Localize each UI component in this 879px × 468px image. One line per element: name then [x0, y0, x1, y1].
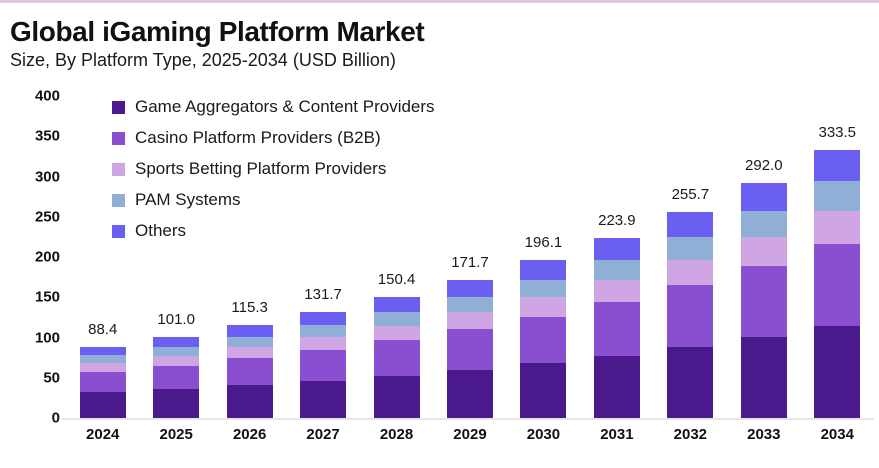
x-axis-tick-label: 2029: [453, 426, 486, 443]
bar-segment[interactable]: [153, 366, 199, 390]
x-axis-tick-label: 2030: [527, 426, 560, 443]
stacked-bar[interactable]: [227, 325, 273, 418]
bar-segment[interactable]: [374, 297, 420, 312]
bar-value-label: 223.9: [598, 212, 636, 229]
x-axis-tick-label: 2024: [86, 426, 119, 443]
bar-value-label: 171.7: [451, 254, 489, 271]
bar-segment[interactable]: [300, 337, 346, 350]
bar-value-label: 255.7: [672, 186, 710, 203]
legend-item[interactable]: Game Aggregators & Content Providers: [112, 96, 435, 118]
bar-segment[interactable]: [300, 350, 346, 381]
bar-segment[interactable]: [227, 358, 273, 385]
bar-segment[interactable]: [814, 150, 860, 181]
bar-segment[interactable]: [447, 370, 493, 418]
legend-item-label: PAM Systems: [135, 190, 240, 210]
bar-segment[interactable]: [227, 337, 273, 347]
stacked-bar[interactable]: [520, 260, 566, 418]
bar-segment[interactable]: [594, 260, 640, 280]
legend-item-label: Others: [135, 221, 186, 241]
legend-item-label: Sports Betting Platform Providers: [135, 159, 386, 179]
bar-segment[interactable]: [300, 325, 346, 337]
bar-segment[interactable]: [814, 211, 860, 244]
legend-item-label: Game Aggregators & Content Providers: [135, 97, 435, 117]
legend-swatch-icon: [112, 101, 125, 114]
stacked-bar[interactable]: [741, 183, 787, 418]
legend-item[interactable]: Sports Betting Platform Providers: [112, 158, 435, 180]
bar-column[interactable]: 333.52034: [801, 0, 874, 420]
bar-segment[interactable]: [741, 183, 787, 211]
chart-page: Global iGaming Platform Market Size, By …: [0, 0, 879, 468]
bar-segment[interactable]: [300, 312, 346, 325]
legend-swatch-icon: [112, 194, 125, 207]
stacked-bar[interactable]: [153, 337, 199, 418]
legend-swatch-icon: [112, 132, 125, 145]
x-axis-tick-label: 2034: [821, 426, 854, 443]
bar-value-label: 88.4: [88, 321, 117, 338]
bar-segment[interactable]: [594, 356, 640, 418]
bar-segment[interactable]: [153, 389, 199, 418]
bar-segment[interactable]: [80, 363, 126, 372]
bar-value-label: 196.1: [525, 234, 563, 251]
bar-segment[interactable]: [667, 237, 713, 260]
stacked-bar[interactable]: [80, 347, 126, 418]
bar-segment[interactable]: [520, 363, 566, 418]
bar-segment[interactable]: [374, 340, 420, 376]
bar-segment[interactable]: [814, 244, 860, 326]
bar-segment[interactable]: [447, 329, 493, 370]
bar-segment[interactable]: [80, 372, 126, 393]
stacked-bar[interactable]: [667, 212, 713, 418]
bar-segment[interactable]: [520, 297, 566, 316]
chart-legend: Game Aggregators & Content ProvidersCasi…: [112, 96, 435, 242]
bar-segment[interactable]: [447, 280, 493, 297]
x-axis-tick-label: 2032: [674, 426, 707, 443]
bar-segment[interactable]: [814, 326, 860, 418]
bar-segment[interactable]: [374, 312, 420, 325]
bar-segment[interactable]: [227, 325, 273, 337]
bar-segment[interactable]: [667, 285, 713, 347]
bar-segment[interactable]: [447, 297, 493, 312]
legend-item[interactable]: PAM Systems: [112, 189, 435, 211]
bar-segment[interactable]: [814, 181, 860, 211]
bar-segment[interactable]: [80, 355, 126, 363]
stacked-bar[interactable]: [594, 238, 640, 418]
bar-segment[interactable]: [153, 347, 199, 356]
stacked-bar[interactable]: [814, 150, 860, 418]
bar-segment[interactable]: [520, 280, 566, 297]
bar-segment[interactable]: [741, 211, 787, 237]
bar-column[interactable]: 292.02033: [727, 0, 800, 420]
bar-column[interactable]: 255.72032: [654, 0, 727, 420]
bar-value-label: 292.0: [745, 157, 783, 174]
legend-item[interactable]: Others: [112, 220, 435, 242]
bar-segment[interactable]: [667, 260, 713, 285]
bar-segment[interactable]: [594, 280, 640, 302]
bar-segment[interactable]: [594, 238, 640, 260]
bar-segment[interactable]: [667, 347, 713, 418]
stacked-bar[interactable]: [300, 312, 346, 418]
bar-segment[interactable]: [741, 266, 787, 337]
bar-column[interactable]: 171.72029: [433, 0, 506, 420]
bar-segment[interactable]: [447, 312, 493, 329]
bar-segment[interactable]: [80, 392, 126, 418]
bar-segment[interactable]: [153, 356, 199, 366]
bar-segment[interactable]: [374, 326, 420, 341]
bar-segment[interactable]: [227, 385, 273, 418]
stacked-bar[interactable]: [447, 280, 493, 418]
stacked-bar[interactable]: [374, 297, 420, 418]
legend-swatch-icon: [112, 225, 125, 238]
legend-item[interactable]: Casino Platform Providers (B2B): [112, 127, 435, 149]
bar-value-label: 101.0: [157, 311, 195, 328]
bar-column[interactable]: 223.92031: [580, 0, 653, 420]
bar-segment[interactable]: [80, 347, 126, 356]
bar-segment[interactable]: [667, 212, 713, 237]
x-axis-tick-label: 2031: [600, 426, 633, 443]
bar-column[interactable]: 196.12030: [507, 0, 580, 420]
bar-segment[interactable]: [300, 381, 346, 418]
x-axis-tick-label: 2033: [747, 426, 780, 443]
bar-segment[interactable]: [153, 337, 199, 347]
bar-value-label: 115.3: [231, 299, 267, 316]
x-axis-tick-label: 2027: [306, 426, 339, 443]
bar-segment[interactable]: [227, 347, 273, 358]
bar-segment[interactable]: [520, 317, 566, 364]
x-axis-tick-label: 2025: [159, 426, 192, 443]
legend-swatch-icon: [112, 163, 125, 176]
x-axis-tick-label: 2028: [380, 426, 413, 443]
bar-value-label: 333.5: [818, 124, 856, 141]
bar-segment[interactable]: [520, 260, 566, 280]
bar-value-label: 150.4: [378, 271, 416, 288]
bar-segment[interactable]: [741, 337, 787, 418]
bar-segment[interactable]: [594, 302, 640, 356]
x-axis-tick-label: 2026: [233, 426, 266, 443]
legend-item-label: Casino Platform Providers (B2B): [135, 128, 381, 148]
bar-value-label: 131.7: [304, 286, 342, 303]
bar-segment[interactable]: [374, 376, 420, 418]
bar-segment[interactable]: [741, 237, 787, 266]
